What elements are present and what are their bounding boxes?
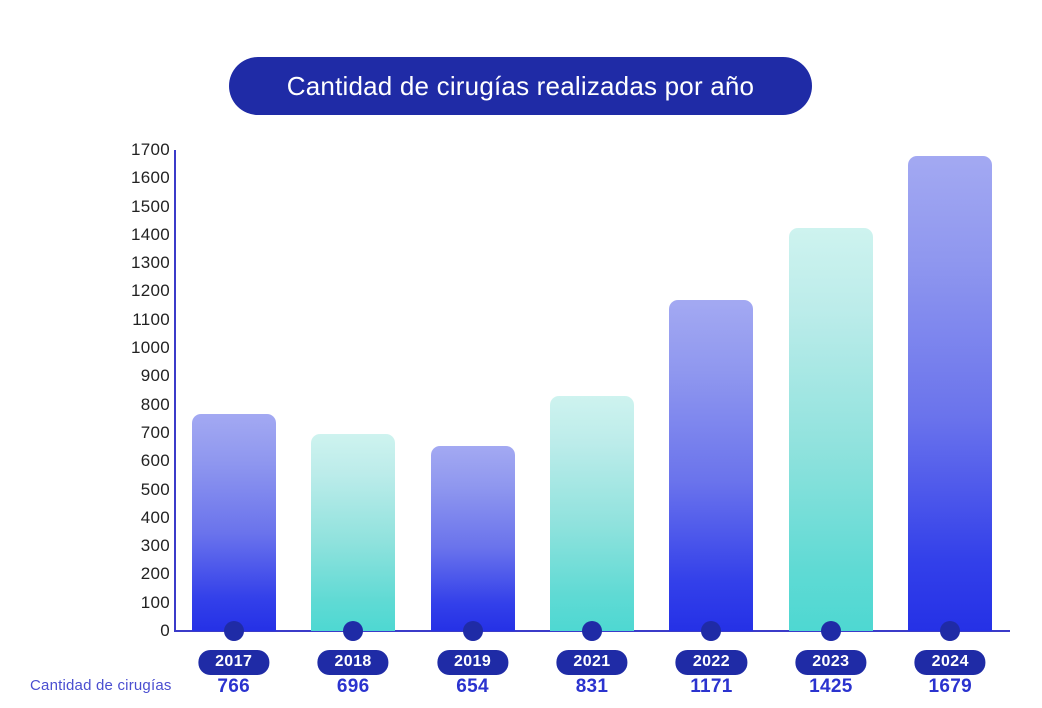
bars-container xyxy=(174,150,1010,631)
bar-chart: Cantidad de cirugías realizadas por año … xyxy=(0,0,1042,708)
category-value: 1679 xyxy=(929,676,972,698)
axis-dot xyxy=(582,621,602,641)
y-axis-tick-label: 0 xyxy=(160,621,170,641)
y-axis-tick-label: 600 xyxy=(141,451,170,471)
y-axis-tick-label: 900 xyxy=(141,366,170,386)
bar[interactable] xyxy=(789,228,873,631)
y-axis-tick-label: 1300 xyxy=(131,253,170,273)
category-value: 1425 xyxy=(809,676,852,698)
category-pill[interactable]: 2017 xyxy=(198,650,269,675)
category-value: 1171 xyxy=(690,676,732,698)
y-axis-tick-label: 500 xyxy=(141,480,170,500)
category-pill[interactable]: 2021 xyxy=(556,650,627,675)
bar[interactable] xyxy=(431,446,515,631)
bar[interactable] xyxy=(669,300,753,631)
axis-dot xyxy=(701,621,721,641)
series-row-label: Cantidad de cirugías xyxy=(30,677,172,694)
category-value: 696 xyxy=(337,676,370,698)
y-axis-tick-label: 400 xyxy=(141,508,170,528)
y-axis-tick-label: 1200 xyxy=(131,281,170,301)
y-axis-tick-label: 800 xyxy=(141,395,170,415)
category-pill[interactable]: 2022 xyxy=(676,650,747,675)
chart-title-pill: Cantidad de cirugías realizadas por año xyxy=(229,57,812,115)
y-axis-tick-label: 200 xyxy=(141,564,170,584)
bar[interactable] xyxy=(192,414,276,631)
y-axis-tick-label: 700 xyxy=(141,423,170,443)
category-value: 831 xyxy=(576,676,609,698)
y-axis-tick-label: 100 xyxy=(141,593,170,613)
bar[interactable] xyxy=(908,156,992,631)
bar[interactable] xyxy=(550,396,634,631)
category-pill[interactable]: 2019 xyxy=(437,650,508,675)
y-axis-tick-label: 300 xyxy=(141,536,170,556)
category-pill[interactable]: 2024 xyxy=(915,650,986,675)
axis-dot xyxy=(463,621,483,641)
chart-title: Cantidad de cirugías realizadas por año xyxy=(287,71,754,102)
y-axis-tick-label: 1700 xyxy=(131,140,170,160)
category-value: 654 xyxy=(456,676,489,698)
category-pill[interactable]: 2023 xyxy=(795,650,866,675)
axis-dot xyxy=(940,621,960,641)
axis-dot xyxy=(224,621,244,641)
axis-dot xyxy=(821,621,841,641)
y-axis-tick-label: 1100 xyxy=(132,310,170,330)
category-value: 766 xyxy=(217,676,250,698)
y-axis-tick-label: 1500 xyxy=(131,197,170,217)
y-axis-tick-label: 1400 xyxy=(131,225,170,245)
category-pill[interactable]: 2018 xyxy=(318,650,389,675)
axis-dot xyxy=(343,621,363,641)
y-axis-tick-label: 1600 xyxy=(131,168,170,188)
y-axis-tick-label: 1000 xyxy=(131,338,170,358)
y-axis-tick-labels: 1700160015001400130012001100100090080070… xyxy=(60,144,170,632)
bar[interactable] xyxy=(311,434,395,631)
